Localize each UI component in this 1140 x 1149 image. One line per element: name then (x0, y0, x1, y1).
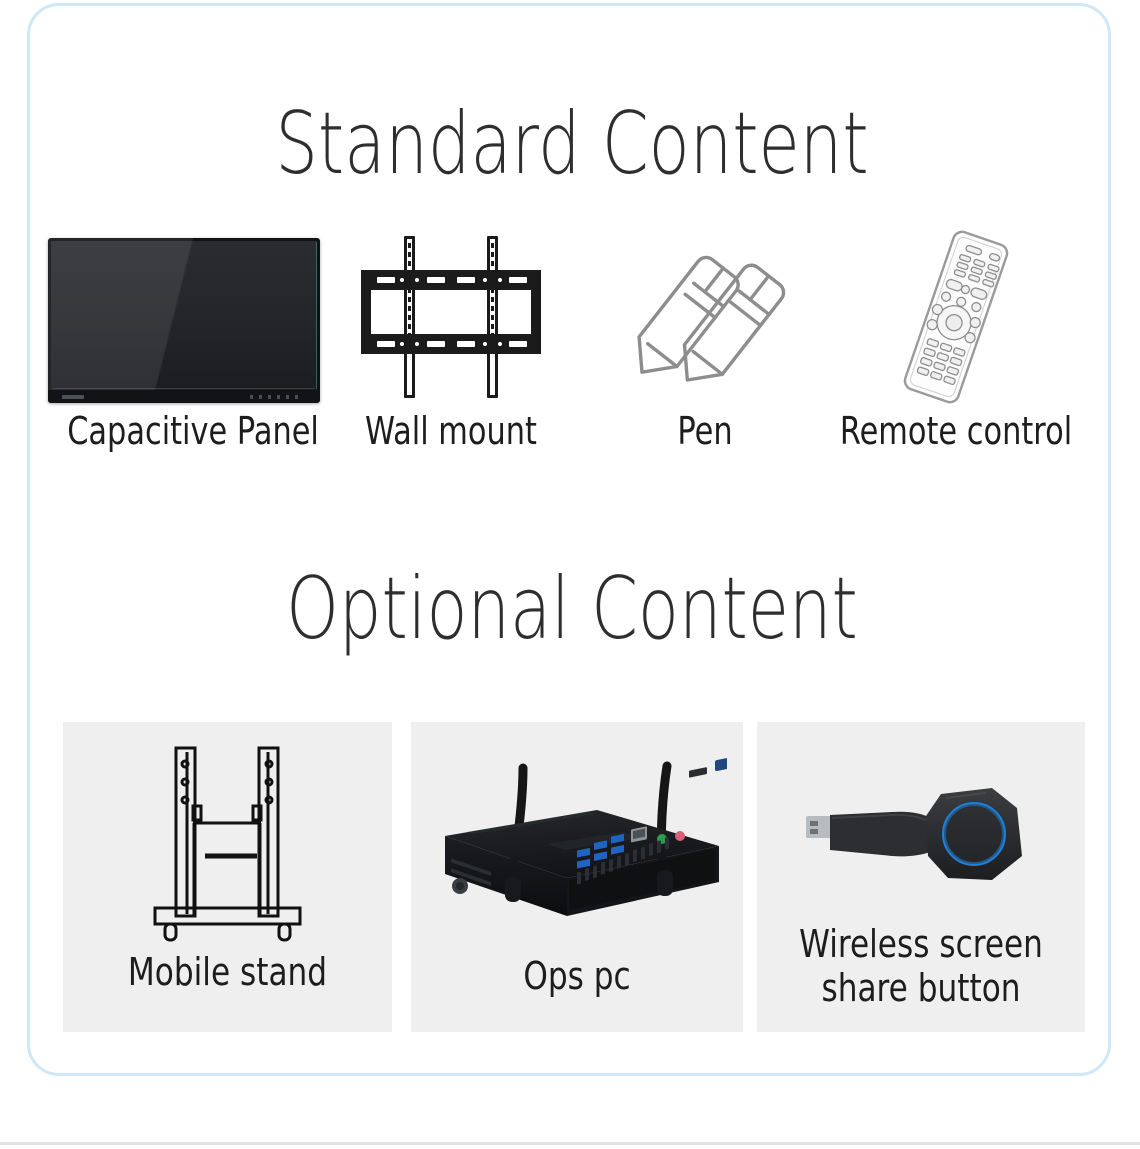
remote-control-svg (876, 228, 1036, 406)
wireless-share-label-line2: share button (787, 966, 1056, 1010)
optional-card-label-wireless-share: Wireless screen share button (757, 922, 1085, 1010)
ops-pc-label-text: Ops pc (441, 954, 713, 998)
wall-mount-art (340, 228, 562, 406)
standard-item-remote-control: Remote control (806, 228, 1106, 452)
remote-control-art (806, 228, 1106, 406)
optional-content-cards: Mobile stand (63, 722, 1085, 1032)
display-control-keys (250, 395, 304, 399)
standard-item-label-remote-control: Remote control (836, 410, 1076, 452)
bottom-divider (0, 1142, 1140, 1145)
mobile-stand-icon (63, 722, 392, 947)
optional-card-label-mobile-stand: Mobile stand (63, 950, 392, 994)
optional-card-mobile-stand[interactable]: Mobile stand (63, 722, 392, 1032)
screen-right-edge (316, 242, 317, 389)
content-panel: Standard Content Capacitive Panel (27, 3, 1111, 1076)
remote-control-icon (876, 228, 1036, 406)
optional-card-ops-pc[interactable]: Ops pc (411, 722, 743, 1032)
display-panel-art (38, 228, 330, 406)
optional-card-label-ops-pc: Ops pc (411, 954, 743, 998)
wall-mount-icon (351, 230, 551, 404)
standard-item-wall-mount: Wall mount (340, 228, 562, 452)
display-logo (62, 395, 84, 399)
mobile-stand-art (63, 722, 392, 952)
screen-hairline (53, 388, 315, 389)
mobile-stand-label-text: Mobile stand (93, 950, 363, 994)
wireless-share-button-icon (796, 760, 1046, 910)
standard-item-pen: Pen (614, 228, 796, 452)
ops-pc-icon (427, 740, 727, 950)
wall-mount-svg (351, 230, 551, 404)
wireless-share-label-line1: Wireless screen (787, 922, 1056, 966)
pen-svg (620, 246, 790, 396)
standard-item-capacitive-panel: Capacitive Panel (38, 228, 330, 452)
ops-pc-svg (427, 740, 727, 950)
standard-item-label-pen: Pen (632, 410, 778, 452)
optional-card-wireless-share[interactable]: Wireless screen share button (757, 722, 1085, 1032)
display-panel-icon (48, 238, 320, 403)
standard-content-heading: Standard Content (149, 101, 995, 187)
optional-content-heading: Optional Content (149, 566, 995, 652)
pen-art (614, 228, 796, 406)
pen-icon (620, 246, 790, 396)
wireless-share-svg (796, 760, 1046, 910)
standard-item-label-capacitive-panel: Capacitive Panel (67, 410, 301, 452)
standard-content-row: Capacitive Panel (30, 228, 1114, 478)
standard-item-label-wall-mount: Wall mount (362, 410, 540, 452)
screen-glare (48, 238, 320, 403)
